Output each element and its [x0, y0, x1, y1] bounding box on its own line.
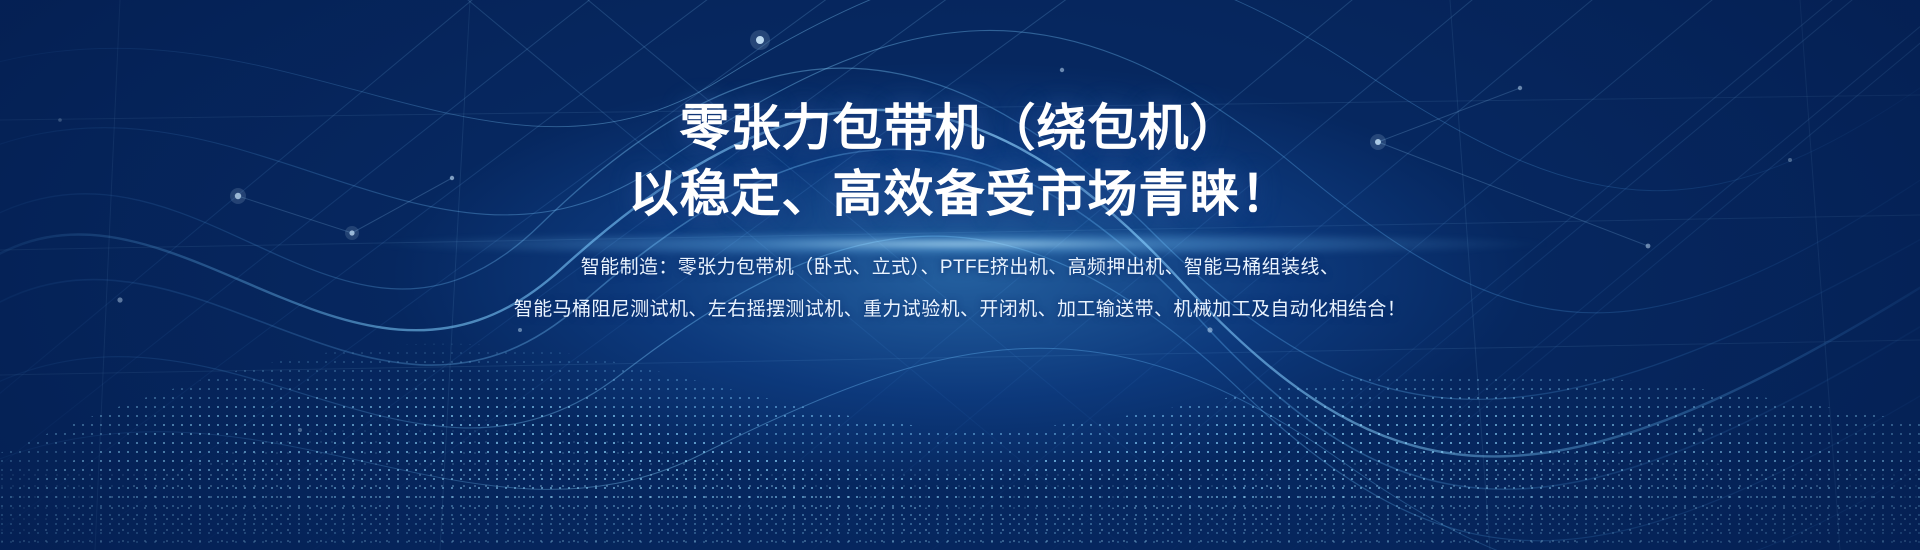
banner-subtitle-line-2: 智能马桶阻尼测试机、左右摇摆测试机、重力试验机、开闭机、加工输送带、机械加工及自… [514, 297, 1406, 323]
banner-title-line-1: 零张力包带机（绕包机） [680, 97, 1241, 159]
banner-content: 零张力包带机（绕包机） 以稳定、高效备受市场青睐！ 智能制造：零张力包带机（卧式… [0, 0, 1920, 550]
banner-subtitle-line-1: 智能制造：零张力包带机（卧式、立式）、PTFE挤出机、高频押出机、智能马桶组装线… [581, 255, 1339, 281]
hero-banner: 零张力包带机（绕包机） 以稳定、高效备受市场青睐！ 智能制造：零张力包带机（卧式… [0, 0, 1920, 550]
banner-title-line-2: 以稳定、高效备受市场青睐！ [629, 163, 1292, 225]
